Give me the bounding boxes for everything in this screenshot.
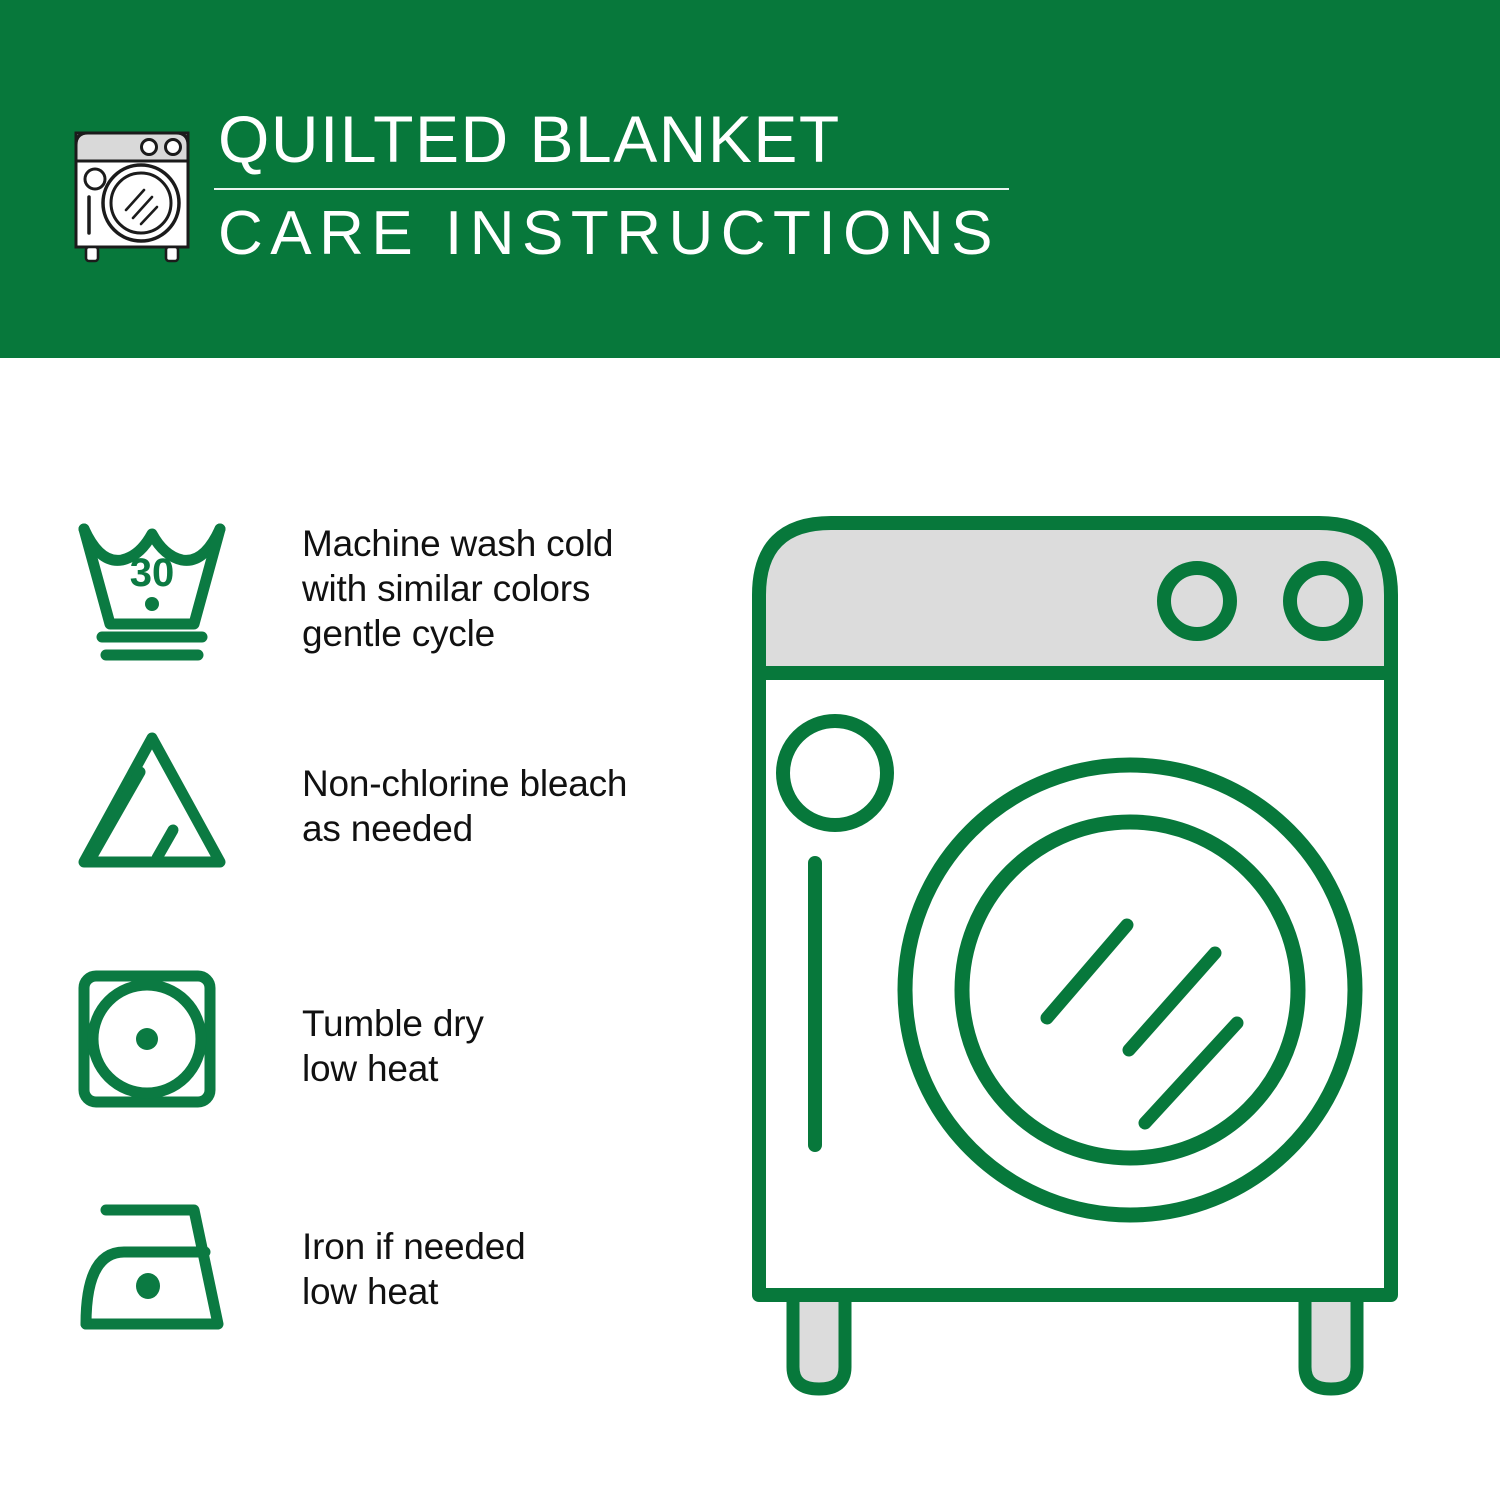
tumble-dry-low-icon [72, 966, 240, 1116]
tumble-dry-dot [136, 1028, 158, 1050]
page-subtitle: CARE INSTRUCTIONS [214, 196, 1024, 272]
bleach-triangle-icon [72, 726, 240, 876]
iron-dot [136, 1273, 160, 1299]
iron-low-heat-icon [72, 1196, 240, 1346]
care-label-iron: Iron if needed low heat [302, 1196, 525, 1314]
header-text-block: QUILTED BLANKET CARE INSTRUCTIONS [214, 100, 1024, 272]
care-row-wash: 30 Machine wash cold with similar colors… [72, 516, 712, 666]
header-banner: QUILTED BLANKET CARE INSTRUCTIONS [0, 0, 1500, 358]
care-row-bleach: Non-chlorine bleach as needed [72, 726, 712, 876]
page-title: QUILTED BLANKET [214, 100, 1024, 178]
care-instructions-page: QUILTED BLANKET CARE INSTRUCTIONS 30 [0, 0, 1500, 1500]
front-load-washing-machine-illustration [745, 505, 1405, 1405]
care-label-wash: Machine wash cold with similar colors ge… [302, 516, 613, 656]
care-symbol-list: 30 Machine wash cold with similar colors… [0, 358, 720, 1500]
care-row-tumble-dry: Tumble dry low heat [72, 966, 712, 1116]
wash-basin-30-icon: 30 [72, 516, 240, 666]
care-label-tumble-dry: Tumble dry low heat [302, 966, 484, 1091]
title-divider [214, 188, 1009, 190]
care-label-bleach: Non-chlorine bleach as needed [302, 726, 627, 851]
wash-dot [145, 597, 159, 611]
washing-machine-icon [62, 105, 202, 265]
wash-temperature-label: 30 [130, 551, 175, 595]
care-row-iron: Iron if needed low heat [72, 1196, 712, 1346]
